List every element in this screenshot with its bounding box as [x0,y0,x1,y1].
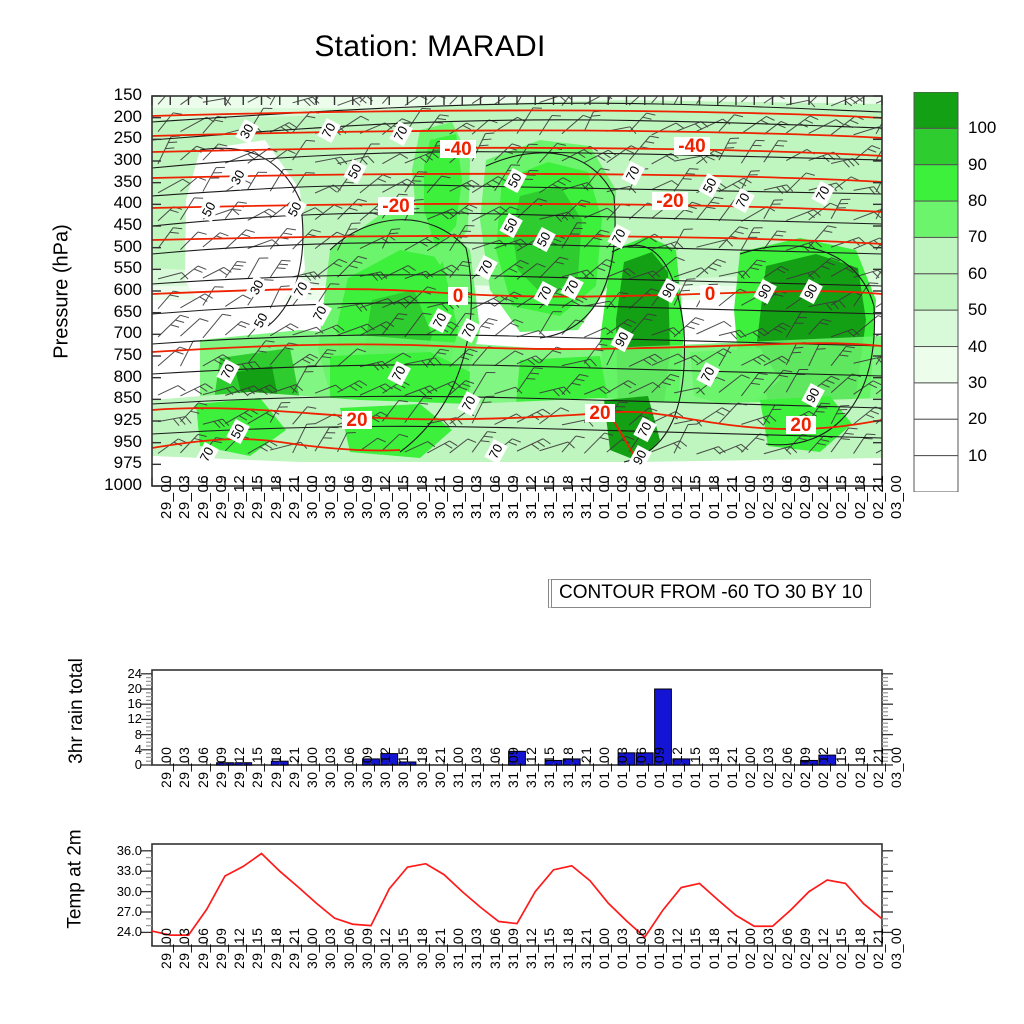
contour-legend-box: CONTOUR FROM -60 TO 30 BY 10 [548,579,871,608]
colorbar-tick: 90 [968,155,987,175]
time-tick-label: 01_06 [633,747,649,788]
time-tick-label: 01_12 [669,475,686,519]
time-tick-label: 30_21 [432,747,448,788]
chart-page: Station: MARADI [0,0,1024,1024]
time-tick-label: 02_06 [779,928,795,969]
temp-tick: 36.0 [78,843,142,858]
time-tick-label: 31_12 [523,475,540,519]
time-tick-label: 29_00 [158,475,175,519]
temp-label-neg40: -40 [440,139,476,160]
temp-panel: 24.027.030.033.036.0 Temp at 2m 29_0029_… [0,836,1024,961]
time-tick-label: 29_18 [268,747,284,788]
temp-tick: 30.0 [78,884,142,899]
pressure-tick: 850 [60,388,142,408]
time-tick-label: 30_06 [341,747,357,788]
time-tick-label: 02_12 [815,928,831,969]
time-tick-label: 30_18 [414,747,430,788]
time-tick-label: 01_06 [633,475,650,519]
time-tick-label: 03_00 [888,928,904,969]
time-tick-label: 30_09 [359,928,375,969]
pressure-tick: 200 [60,107,142,127]
colorbar-tick: 20 [968,409,987,429]
time-tick-label: 31_21 [578,928,594,969]
time-tick-label: 30_18 [414,928,430,969]
time-tick-label: 02_06 [779,475,796,519]
time-tick-label: 01_03 [614,475,631,519]
time-tick-label: 30_12 [377,475,394,519]
time-tick-label: 02_21 [870,928,886,969]
time-tick-label: 30_15 [395,928,411,969]
svg-text:0: 0 [453,286,464,307]
time-tick-label: 01_15 [687,475,704,519]
time-tick-label: 02_03 [760,747,776,788]
time-tick-label: 30_03 [322,475,339,519]
time-tick-label: 29_21 [286,747,302,788]
time-tick-label: 31_12 [523,747,539,788]
svg-text:-40: -40 [444,139,471,160]
time-tick-label: 01_03 [614,747,630,788]
time-tick-label: 02_21 [870,747,886,788]
time-tick-label: 02_00 [742,928,758,969]
temp-tick: 24.0 [78,924,142,939]
time-tick-label: 01_21 [724,928,740,969]
time-tick-label: 01_06 [633,928,649,969]
time-tick-label: 29_09 [213,475,230,519]
pressure-tick: 350 [60,172,142,192]
time-tick-label: 30_12 [377,928,393,969]
time-tick-label: 31_06 [487,475,504,519]
colorbar-tick: 50 [968,300,987,320]
time-tick-label: 29_12 [231,747,247,788]
sounding-panel: 30 70 70 30 50 50 70 50 70 70 50 50 50 5… [0,0,1024,620]
pressure-tick: 250 [60,128,142,148]
pressure-tick: 300 [60,150,142,170]
time-tick-label: 30_00 [304,475,321,519]
time-tick-label: 31_09 [505,928,521,969]
time-tick-label: 30_15 [395,747,411,788]
time-tick-label: 01_18 [706,928,722,969]
temp-label-neg20b: -20 [652,191,688,212]
rain-tick: 0 [92,757,142,772]
time-tick-label: 01_00 [596,747,612,788]
colorbar-tick: 70 [968,227,987,247]
svg-text:0: 0 [705,284,716,305]
time-tick-label: 31_00 [450,475,467,519]
rain-tick: 12 [92,711,142,726]
time-tick-label: 01_00 [596,475,613,519]
time-tick-label: 02_18 [852,747,868,788]
time-tick-label: 31_15 [541,747,557,788]
time-tick-label: 02_12 [815,475,832,519]
time-tick-label: 29_06 [195,747,211,788]
time-tick-label: 02_12 [815,747,831,788]
temp-axis-label: Temp at 2m [65,792,87,967]
temp-label-20b: 20 [585,403,615,424]
time-tick-label: 29_06 [195,475,212,519]
time-tick-label: 02_15 [833,928,849,969]
time-tick-label: 01_09 [651,747,667,788]
time-tick-label: 29_00 [158,747,174,788]
time-tick-label: 31_12 [523,928,539,969]
pressure-axis-label: Pressure (hPa) [51,212,74,372]
time-tick-label: 30_03 [322,747,338,788]
time-tick-label: 31_18 [560,747,576,788]
temp-label-zero: 0 [448,286,468,307]
time-tick-label: 31_18 [560,928,576,969]
time-tick-label: 29_09 [213,928,229,969]
time-tick-label: 29_09 [213,747,229,788]
time-tick-label: 02_09 [797,475,814,519]
time-tick-label: 29_03 [176,928,192,969]
time-tick-label: 01_21 [724,747,740,788]
colorbar-tick: 80 [968,191,987,211]
time-tick-label: 01_18 [706,475,723,519]
svg-text:-20: -20 [382,196,409,217]
time-tick-label: 29_12 [231,475,248,519]
time-tick-label: 01_00 [596,928,612,969]
svg-text:20: 20 [589,403,610,424]
colorbar-svg [906,92,1024,492]
time-tick-label: 31_00 [450,747,466,788]
time-tick-label: 31_09 [505,747,521,788]
time-tick-label: 30_06 [341,928,357,969]
temp-label-zerob: 0 [700,284,720,305]
time-tick-label: 01_21 [724,475,741,519]
time-tick-label: 02_06 [779,747,795,788]
sounding-svg: 30 70 70 30 50 50 70 50 70 70 50 50 50 5… [0,0,1024,620]
time-tick-label: 31_06 [487,747,503,788]
time-tick-label: 30_06 [341,475,358,519]
time-tick-label: 29_15 [249,747,265,788]
time-tick-label: 02_15 [833,475,850,519]
time-tick-label: 31_03 [468,475,485,519]
time-tick-label: 31_03 [468,747,484,788]
pressure-tick: 150 [60,85,142,105]
time-tick-label: 29_18 [268,475,285,519]
colorbar-tick: 40 [968,337,987,357]
time-tick-label: 31_03 [468,928,484,969]
pressure-tick: 1000 [60,475,142,495]
temp-label-20c: 20 [786,415,816,436]
time-tick-label: 31_18 [560,475,577,519]
time-tick-label: 29_00 [158,928,174,969]
time-tick-label: 29_12 [231,928,247,969]
time-tick-label: 02_21 [870,475,887,519]
time-tick-label: 30_21 [432,475,449,519]
time-tick-label: 02_18 [852,475,869,519]
time-tick-label: 03_00 [888,475,905,519]
time-tick-label: 30_09 [359,747,375,788]
time-tick-label: 01_12 [669,928,685,969]
time-tick-label: 29_03 [176,475,193,519]
svg-text:20: 20 [346,410,367,431]
time-tick-label: 29_15 [249,928,265,969]
time-tick-label: 01_09 [651,928,667,969]
time-tick-label: 02_15 [833,747,849,788]
time-tick-label: 29_18 [268,928,284,969]
rain-axis-label: 3hr rain total [66,626,88,796]
time-tick-label: 31_21 [578,475,595,519]
time-tick-label: 30_00 [304,928,320,969]
time-tick-label: 02_09 [797,928,813,969]
time-tick-label: 29_15 [249,475,266,519]
time-tick-label: 02_00 [742,475,759,519]
pressure-tick: 975 [60,453,142,473]
time-tick-label: 30_03 [322,928,338,969]
time-tick-label: 30_18 [414,475,431,519]
rain-tick: 16 [92,696,142,711]
time-tick-label: 02_03 [760,928,776,969]
time-tick-label: 30_12 [377,747,393,788]
svg-text:20: 20 [790,415,811,436]
rain-tick: 20 [92,681,142,696]
time-tick-label: 01_03 [614,928,630,969]
rain-panel: 04812162024 3hr rain total 29_0029_0329_… [0,660,1024,785]
pressure-tick: 950 [60,432,142,452]
time-tick-label: 29_21 [286,928,302,969]
time-tick-label: 30_09 [359,475,376,519]
pressure-tick: 925 [60,410,142,430]
rain-tick: 4 [92,742,142,757]
time-tick-label: 30_00 [304,747,320,788]
temp-label-20: 20 [342,410,372,431]
time-tick-label: 31_00 [450,928,466,969]
colorbar-tick: 10 [968,446,987,466]
time-tick-label: 30_21 [432,928,448,969]
time-tick-label: 02_00 [742,747,758,788]
time-tick-label: 31_15 [541,928,557,969]
time-tick-label: 02_03 [760,475,777,519]
time-tick-label: 02_09 [797,747,813,788]
time-tick-label: 29_03 [176,747,192,788]
time-tick-label: 29_06 [195,928,211,969]
time-tick-label: 01_15 [687,747,703,788]
time-tick-label: 31_15 [541,475,558,519]
temp-tick: 27.0 [78,904,142,919]
colorbar-tick: 60 [968,264,987,284]
time-tick-label: 31_21 [578,747,594,788]
time-tick-label: 01_12 [669,747,685,788]
temp-label-neg40b: -40 [674,136,710,157]
rain-tick: 24 [92,666,142,681]
time-tick-label: 03_00 [888,747,904,788]
time-tick-label: 31_06 [487,928,503,969]
time-tick-label: 30_15 [395,475,412,519]
time-tick-label: 29_21 [286,475,303,519]
pressure-tick: 400 [60,193,142,213]
temp-tick: 33.0 [78,863,142,878]
svg-text:-20: -20 [656,191,683,212]
colorbar-tick: 100 [968,118,996,138]
svg-text:-40: -40 [678,136,705,157]
rain-tick: 8 [92,727,142,742]
time-tick-label: 02_18 [852,928,868,969]
time-tick-label: 31_09 [505,475,522,519]
colorbar: 100908070605040302010 [906,92,1024,492]
colorbar-tick: 30 [968,373,987,393]
time-tick-label: 01_09 [651,475,668,519]
temp-label-neg20: -20 [378,196,414,217]
time-tick-label: 01_15 [687,928,703,969]
time-tick-label: 01_18 [706,747,722,788]
